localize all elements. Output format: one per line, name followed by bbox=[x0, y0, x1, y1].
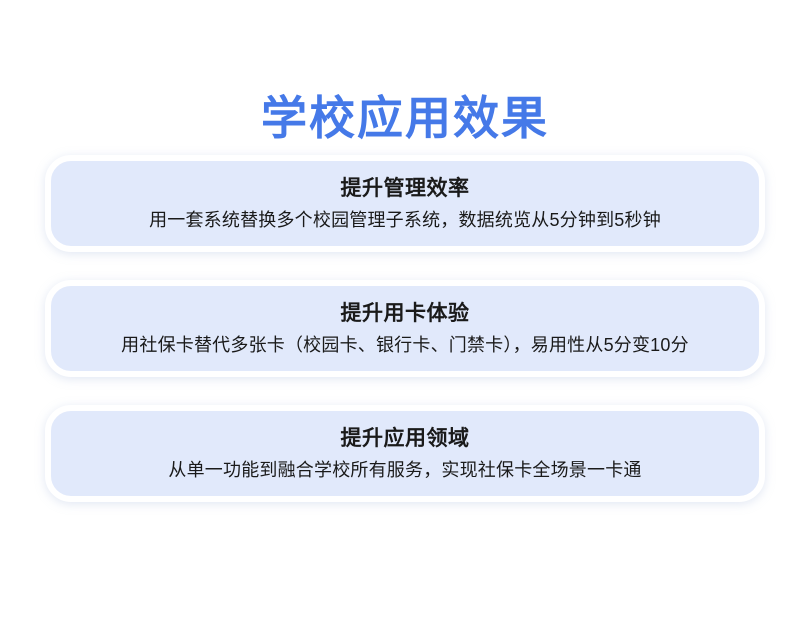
benefit-card-management-efficiency: 提升管理效率 用一套系统替换多个校园管理子系统，数据统览从5分钟到5秒钟 bbox=[45, 155, 765, 252]
page-title: 学校应用效果 bbox=[0, 89, 810, 147]
card-body-text: 用一套系统替换多个校园管理子系统，数据统览从5分钟到5秒钟 bbox=[149, 207, 661, 233]
card-heading: 提升管理效率 bbox=[341, 175, 470, 203]
card-body-text: 从单一功能到融合学校所有服务，实现社保卡全场景一卡通 bbox=[168, 457, 641, 483]
card-body-text: 用社保卡替代多张卡（校园卡、银行卡、门禁卡），易用性从5分变10分 bbox=[121, 332, 689, 358]
benefit-card-list: 提升管理效率 用一套系统替换多个校园管理子系统，数据统览从5分钟到5秒钟 提升用… bbox=[45, 155, 765, 502]
benefit-card-application-domain: 提升应用领域 从单一功能到融合学校所有服务，实现社保卡全场景一卡通 bbox=[45, 405, 765, 502]
benefit-card-card-experience: 提升用卡体验 用社保卡替代多张卡（校园卡、银行卡、门禁卡），易用性从5分变10分 bbox=[45, 280, 765, 377]
card-heading: 提升应用领域 bbox=[341, 425, 470, 453]
school-application-effect-page: 学校应用效果 提升管理效率 用一套系统替换多个校园管理子系统，数据统览从5分钟到… bbox=[0, 0, 810, 622]
card-heading: 提升用卡体验 bbox=[341, 300, 470, 328]
